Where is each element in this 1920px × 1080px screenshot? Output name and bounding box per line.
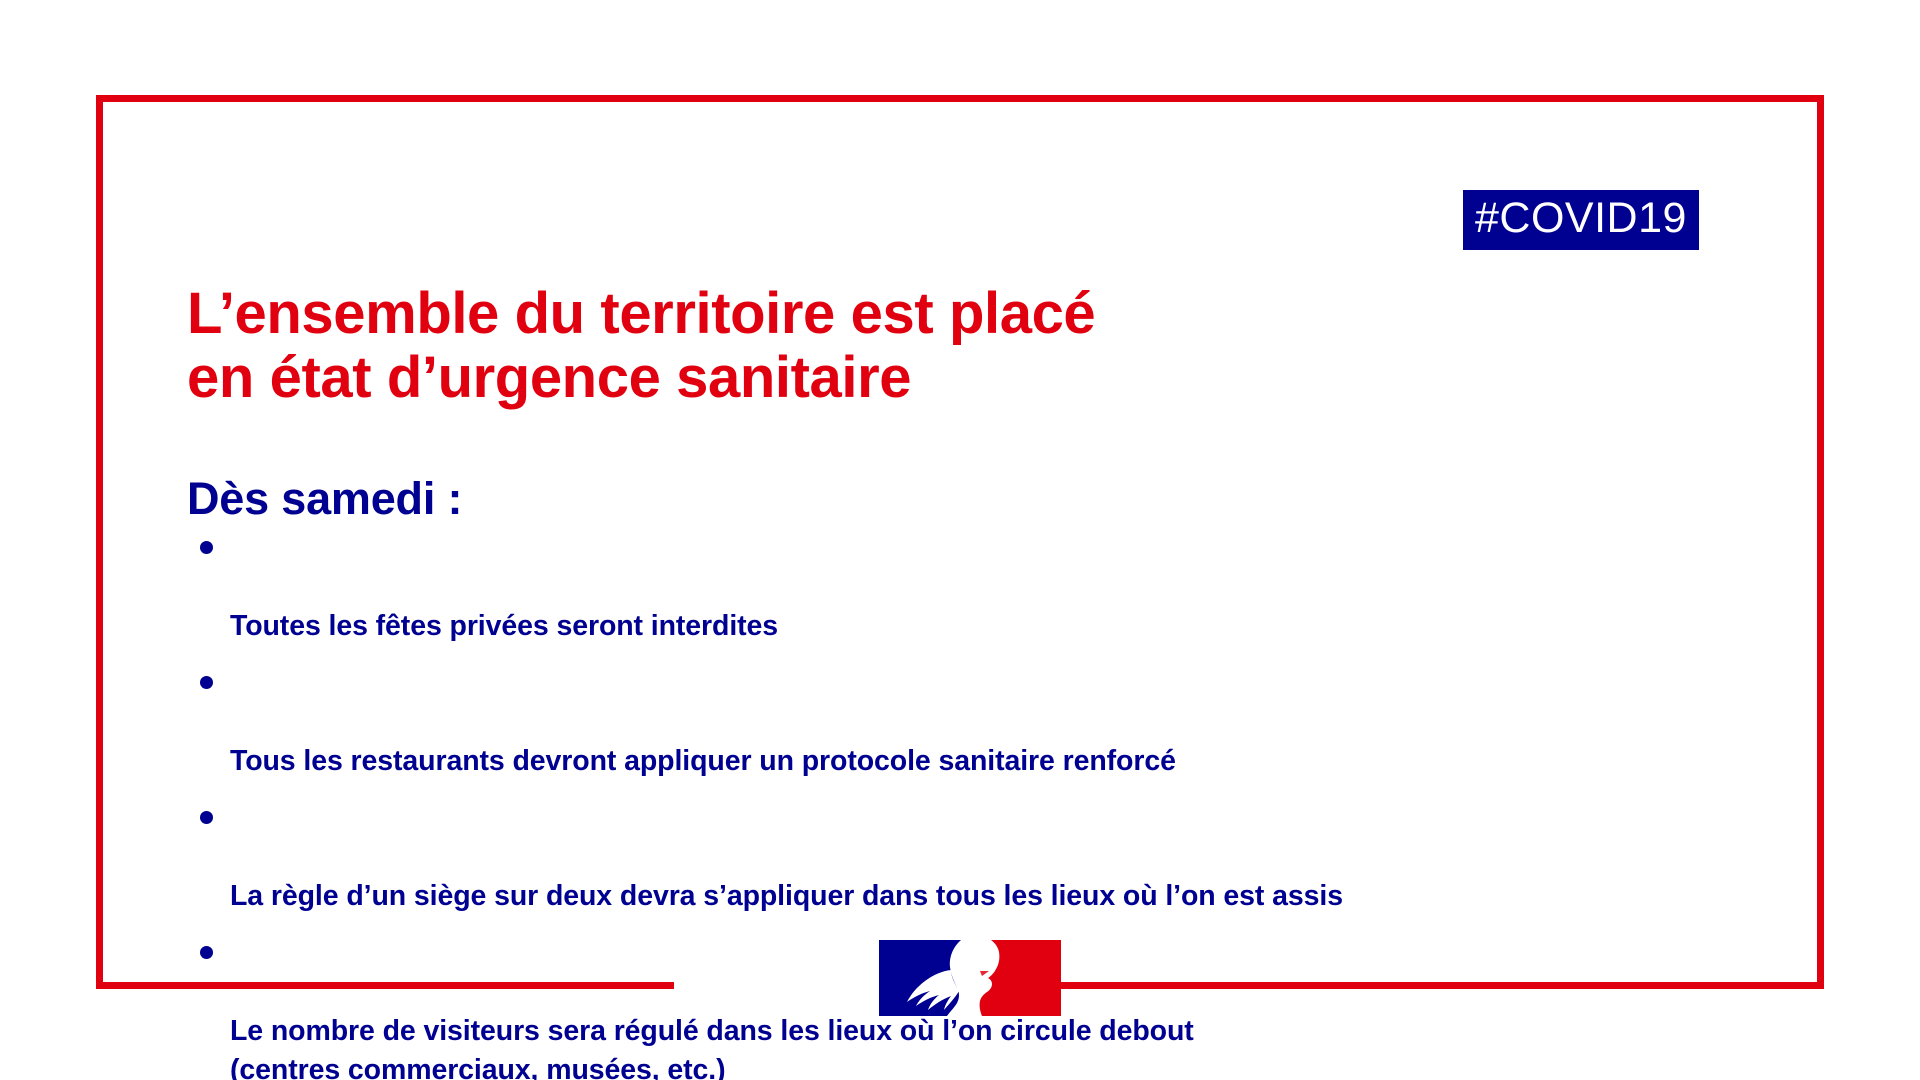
list-item: Tous les restaurants devront appliquer u… [192, 663, 1692, 781]
bullet-point-icon [200, 676, 213, 689]
poster-canvas: #COVID19 L’ensemble du territoire est pl… [0, 0, 1920, 1080]
list-item: La règle d’un siège sur deux devra s’app… [192, 798, 1692, 916]
covid19-hashtag-badge: #COVID19 [1463, 190, 1699, 250]
list-item-label: La règle d’un siège sur deux devra s’app… [230, 880, 1343, 912]
frame-left-edge [96, 95, 103, 989]
bullet-point-icon [200, 541, 213, 554]
list-item-label: Tous les restaurants devront appliquer u… [230, 745, 1176, 777]
subheading: Dès samedi : [187, 474, 462, 524]
list-item-label: Le nombre de visiteurs sera régulé dans … [230, 1015, 1194, 1080]
page-title: L’ensemble du territoire est placé en ét… [187, 282, 1095, 410]
bullet-point-icon [200, 811, 213, 824]
frame-right-edge [1817, 95, 1824, 989]
list-item: Toutes les fêtes privées seront interdit… [192, 528, 1692, 646]
marianne-logo [879, 940, 1061, 1016]
list-item-label: Toutes les fêtes privées seront interdit… [230, 610, 778, 642]
frame-top-edge [96, 95, 1824, 102]
bullet-point-icon [200, 946, 213, 959]
